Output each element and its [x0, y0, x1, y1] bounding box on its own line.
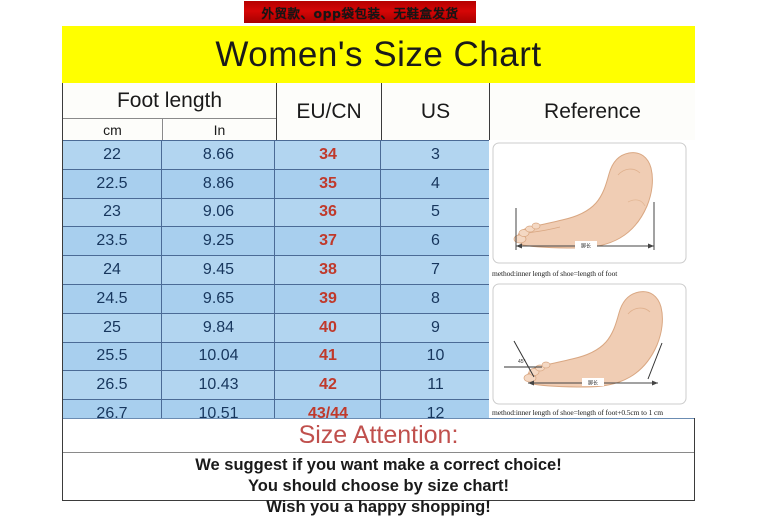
reference-column: 脚长 method:inner length of shoe=length of… — [490, 140, 695, 418]
cell-in: 8.66 — [163, 141, 275, 169]
table-row: 249.45387 — [63, 256, 489, 285]
table-row: 23.59.25376 — [63, 227, 489, 256]
cell-cm: 25.5 — [63, 343, 162, 371]
cell-cm: 25 — [63, 314, 162, 342]
svg-text:脚长: 脚长 — [581, 243, 591, 250]
cell-us: 3 — [382, 141, 489, 169]
cell-eu-cn: 35 — [276, 170, 381, 198]
reference-caption-1: method:inner length of shoe=length of fo… — [492, 269, 617, 278]
foot-measure-diagram-icon: 45° 脚长 — [490, 279, 695, 418]
cell-in: 9.45 — [163, 256, 275, 284]
cell-us: 8 — [382, 285, 489, 313]
cell-cm: 26.5 — [63, 371, 162, 399]
cell-us: 4 — [382, 170, 489, 198]
cell-in: 9.84 — [163, 314, 275, 342]
size-attention-row: Size Attention: — [63, 418, 694, 453]
cell-eu-cn: 38 — [276, 256, 381, 284]
table-header: Foot length cm In EU/CN US Reference — [63, 83, 694, 140]
table-row: 259.84409 — [63, 314, 489, 343]
svg-text:脚长: 脚长 — [588, 380, 598, 387]
column-header-foot-length: Foot length — [63, 83, 276, 118]
cell-eu-cn: 40 — [276, 314, 381, 342]
table-row: 228.66343 — [63, 140, 489, 170]
cell-in: 9.25 — [163, 227, 275, 255]
cell-eu-cn: 39 — [276, 285, 381, 313]
cell-cm: 22 — [63, 141, 162, 169]
cell-us: 10 — [382, 343, 489, 371]
title-banner: Women's Size Chart — [62, 26, 695, 83]
cell-us: 11 — [382, 371, 489, 399]
attention-notes: We suggest if you want make a correct ch… — [63, 454, 694, 500]
page-title: Women's Size Chart — [215, 35, 541, 75]
cell-in: 9.06 — [163, 199, 275, 227]
cell-in: 10.43 — [163, 371, 275, 399]
header-divider — [63, 118, 276, 119]
header-divider-us-reference — [489, 83, 490, 140]
cell-cm: 23 — [63, 199, 162, 227]
cell-in: 9.65 — [163, 285, 275, 313]
cell-us: 6 — [382, 227, 489, 255]
table-row: 26.510.434211 — [63, 371, 489, 400]
size-chart-table: Foot length cm In EU/CN US Reference 228… — [62, 83, 695, 501]
svg-text:45°: 45° — [518, 359, 526, 365]
foot-measure-diagram-icon: 脚长 — [490, 140, 695, 279]
cell-eu-cn: 41 — [276, 343, 381, 371]
size-attention-heading: Size Attention: — [299, 421, 459, 450]
table-row: 22.58.86354 — [63, 170, 489, 199]
column-header-eu-cn: EU/CN — [277, 83, 381, 140]
cell-in: 10.04 — [163, 343, 275, 371]
attention-note-line: We suggest if you want make a correct ch… — [195, 455, 561, 476]
header-divider-footlength-eucn — [276, 83, 277, 140]
cell-eu-cn: 37 — [276, 227, 381, 255]
cell-eu-cn: 36 — [276, 199, 381, 227]
reference-item-1: 脚长 method:inner length of shoe=length of… — [490, 140, 695, 279]
cell-us: 9 — [382, 314, 489, 342]
cell-cm: 23.5 — [63, 227, 162, 255]
column-header-in: In — [164, 119, 275, 140]
cell-eu-cn: 42 — [276, 371, 381, 399]
table-row: 25.510.044110 — [63, 343, 489, 372]
cell-us: 5 — [382, 199, 489, 227]
cell-in: 8.86 — [163, 170, 275, 198]
column-header-cm: cm — [63, 119, 162, 140]
table-row: 239.06365 — [63, 199, 489, 228]
attention-note-line: You should choose by size chart! — [248, 476, 509, 497]
table-body: 228.6634322.58.86354239.0636523.59.25376… — [63, 140, 489, 418]
cell-cm: 22.5 — [63, 170, 162, 198]
attention-note-line: Wish you a happy shopping! — [266, 497, 490, 518]
cell-eu-cn: 34 — [276, 141, 381, 169]
promo-banner: 外贸款、opp袋包装、无鞋盒发货 — [244, 1, 476, 23]
reference-caption-2: method:inner length of shoe=length of fo… — [492, 408, 663, 417]
table-row: 24.59.65398 — [63, 285, 489, 314]
reference-item-2: 45° 脚长 method:inner length of shoe=lengt… — [490, 279, 695, 418]
column-header-us: US — [382, 83, 489, 140]
cell-us: 7 — [382, 256, 489, 284]
cell-cm: 24.5 — [63, 285, 162, 313]
cell-cm: 24 — [63, 256, 162, 284]
column-header-reference: Reference — [490, 83, 695, 140]
header-divider-cm-in — [162, 118, 163, 140]
header-divider-eucn-us — [381, 83, 382, 140]
